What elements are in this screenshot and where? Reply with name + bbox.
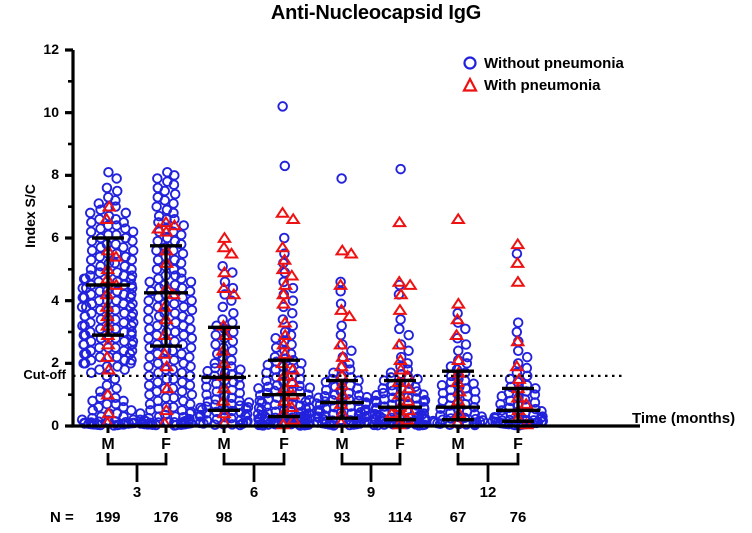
n-value-label: 143 [261,509,307,526]
figure-anti-nucleocapsid-igg: Anti-Nucleocapsid IgG Index S/C Time (mo… [0,0,752,533]
y-tick-label: 6 [25,229,59,245]
n-value-label: 114 [377,509,423,526]
x-tick-label-12-f: F [503,436,533,454]
y-tick-label: 2 [25,354,59,370]
month-bracket-label-12: 12 [468,484,508,501]
y-tick-label: 4 [25,292,59,308]
x-tick-label-9-f: F [385,436,415,454]
month-bracket-12 [458,453,518,482]
n-value-label: 93 [319,509,365,526]
y-tick-label: 8 [25,166,59,182]
y-tick-label: 12 [25,41,59,57]
y-tick-label: 0 [25,417,59,433]
month-bracket-label-6: 6 [234,484,274,501]
data-points-layer [78,102,547,430]
n-value-label: 76 [495,509,541,526]
y-tick-label: 10 [25,104,59,120]
x-tick-label-12-m: M [443,436,473,454]
month-bracket-label-3: 3 [117,484,157,501]
month-bracket-3 [108,453,166,482]
month-bracket-label-9: 9 [351,484,391,501]
month-bracket-9 [342,453,400,482]
x-tick-label-6-f: F [269,436,299,454]
month-brackets-layer [108,453,518,482]
x-tick-label-9-m: M [327,436,357,454]
axis-layer [65,50,640,433]
x-tick-label-3-f: F [151,436,181,454]
x-tick-label-6-m: M [209,436,239,454]
x-tick-label-3-m: M [93,436,123,454]
n-value-label: 67 [435,509,481,526]
n-value-label: 98 [201,509,247,526]
month-bracket-6 [224,453,284,482]
n-value-label: 199 [85,509,131,526]
n-value-label: 176 [143,509,189,526]
